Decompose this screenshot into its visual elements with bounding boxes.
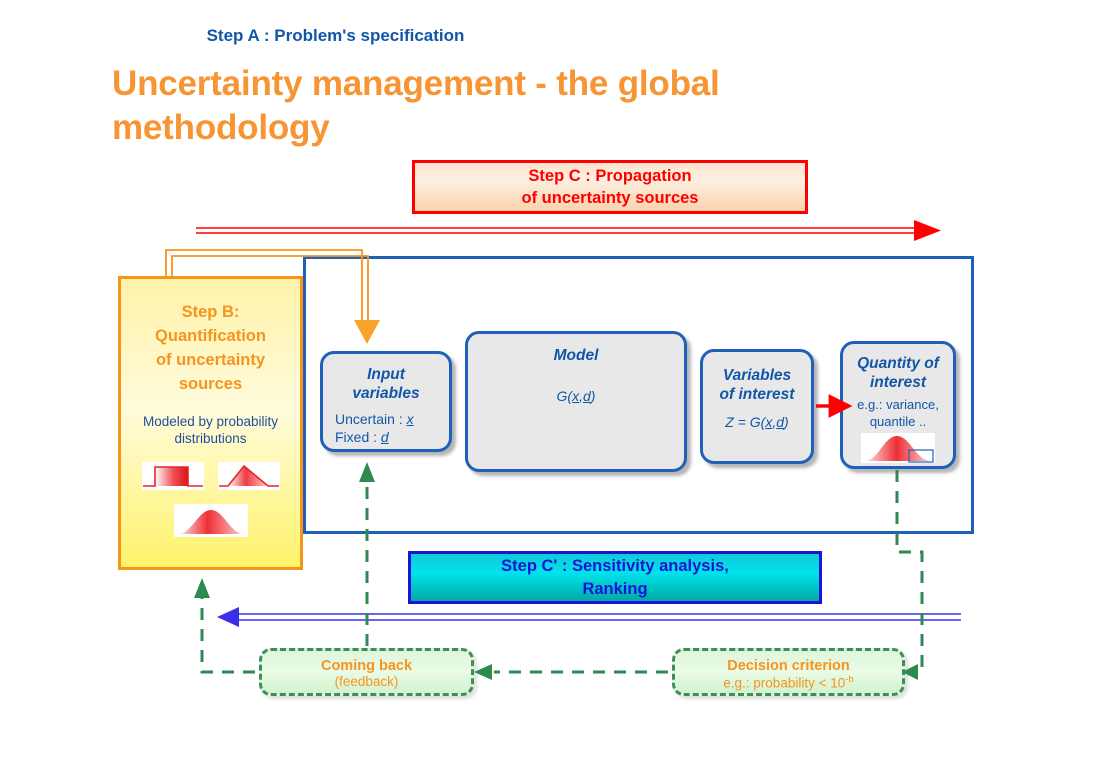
step-c-line2: of uncertainty sources [415,187,805,209]
decision-criterion-formula: e.g.: probability < 10-b [675,674,902,691]
quantity-of-interest-title-line1: Quantity of [843,354,953,373]
variables-of-interest-title-line1: Variables [703,366,811,385]
decision-criterion-box: Decision criterion e.g.: probability < 1… [672,648,905,696]
page-title: Uncertainty management - the global meth… [112,62,872,150]
step-b-subtitle: Modeled by probability distributions [121,413,300,448]
step-c-banner: Step C : Propagation of uncertainty sour… [412,160,808,214]
step-b-heading-line1: Step B: [121,301,300,325]
uniform-distribution-thumbnail [142,462,204,490]
step-b-heading-line3: of uncertainty [121,349,300,373]
coming-back-box: Coming back (feedback) [259,648,474,696]
step-c-prime-line1: Step C' : Sensitivity analysis, [411,555,819,577]
voi-formula-suffix: ) [784,414,789,430]
model-formula-suffix: ) [591,388,596,404]
quantity-of-interest-details: e.g.: variance, quantile .. [843,397,953,431]
coming-back-subtitle: (feedback) [262,674,471,689]
gaussian-distribution-thumbnail [174,504,248,537]
green-dashed-comingback-to-stepb [194,578,255,672]
step-b-box: Step B: Quantification of uncertainty so… [118,276,303,570]
input-variables-title-line1: Input [323,365,449,384]
quantity-of-interest-detail-line2: quantile .. [843,414,953,431]
coming-back-title: Coming back [262,658,471,674]
step-b-subtitle-line1: Modeled by probability [121,413,300,431]
step-b-heading-line4: sources [121,373,300,397]
input-variables-title-line2: variables [323,384,449,403]
variables-of-interest-formula: Z = G(x,d) [703,413,811,431]
step-c-line1: Step C : Propagation [415,165,805,187]
input-variables-fixed-line: Fixed : d [335,428,449,446]
step-b-heading: Step B: Quantification of uncertainty so… [121,301,300,397]
decision-criterion-title: Decision criterion [675,658,902,674]
model-formula-prefix: G( [557,388,573,404]
fixed-symbol: d [381,429,389,445]
step-a-title: Step A : Problem's specification [0,26,671,46]
decision-criterion-exponent: -b [845,674,853,685]
model-formula: G(x,d) [468,387,684,405]
blue-sensitivity-arrow [217,607,961,627]
triangular-distribution-thumbnail [218,462,280,490]
step-b-subtitle-line2: distributions [121,430,300,448]
quantity-of-interest-detail-line1: e.g.: variance, [843,397,953,414]
model-title: Model [468,346,684,365]
slide-canvas: Uncertainty management - the global meth… [0,0,1110,778]
voi-formula-d: d [776,414,784,430]
gaussian-with-quantile-box-thumbnail [861,433,935,463]
step-b-heading-line2: Quantification [121,325,300,349]
uncertain-symbol: x [407,411,414,427]
decision-criterion-formula-text: e.g.: probability < 10 [723,676,845,691]
distribution-thumbnails-row-2 [121,504,300,537]
input-variables-title: Input variables [323,365,449,404]
fixed-label: Fixed : [335,429,381,445]
voi-formula-prefix: Z = G( [725,414,765,430]
green-dashed-decision-to-comingback [474,664,668,680]
input-variables-box: Input variables Uncertain : x Fixed : d [320,351,452,452]
uncertain-label: Uncertain : [335,411,407,427]
step-c-prime-line2: Ranking [411,578,819,600]
variables-of-interest-box: Variables of interest Z = G(x,d) [700,349,814,464]
variables-of-interest-title-line2: of interest [703,385,811,404]
input-variables-details: Uncertain : x Fixed : d [323,410,449,446]
model-formula-d: d [583,388,591,404]
input-variables-uncertain-line: Uncertain : x [335,410,449,428]
variables-of-interest-title: Variables of interest [703,366,811,405]
quantity-of-interest-title-line2: interest [843,373,953,392]
quantity-of-interest-title: Quantity of interest [843,354,953,393]
red-propagation-arrow [196,220,941,241]
step-c-prime-banner: Step C' : Sensitivity analysis, Ranking [408,551,822,604]
distribution-thumbnails-row-1 [121,462,300,490]
quantity-of-interest-box: Quantity of interest e.g.: variance, qua… [840,341,956,469]
model-box: Model G(x,d) [465,331,687,472]
